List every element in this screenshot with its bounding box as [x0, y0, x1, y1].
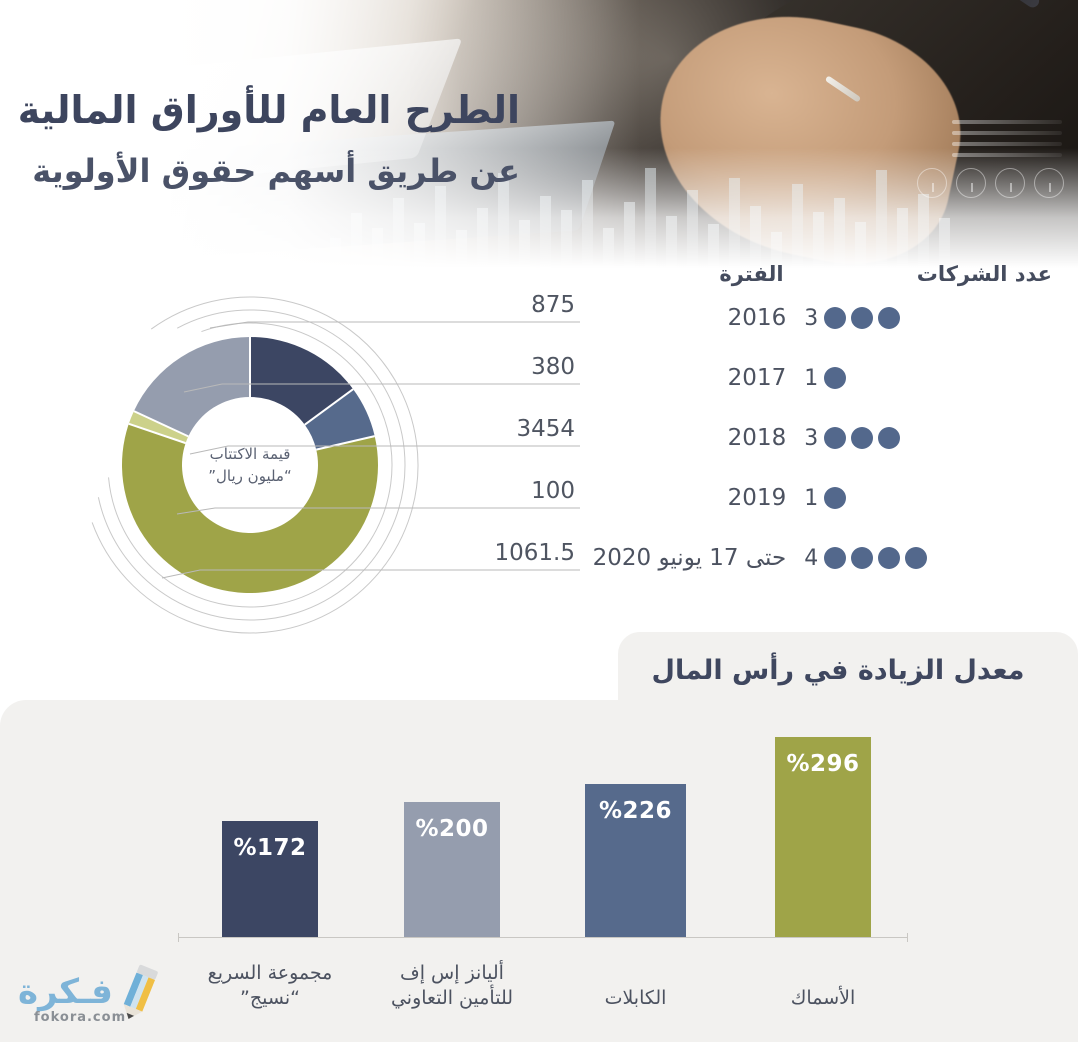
watermark-brand: فـكرة	[18, 972, 113, 1012]
bar: %200	[404, 802, 500, 937]
company-dots	[824, 367, 846, 389]
bar: %172	[222, 821, 318, 937]
donut-value-label: 100	[0, 478, 575, 504]
table-row: 12017	[588, 350, 1058, 406]
company-dot-icon	[851, 307, 873, 329]
donut-value-label: 875	[0, 292, 575, 318]
bar-chart-title: معدل الزيادة في رأس المال	[618, 648, 1058, 692]
bar-value-label: %296	[786, 751, 859, 777]
company-dot-icon	[878, 427, 900, 449]
table-row: 4حتى 17 يونيو 2020	[588, 530, 1058, 586]
page-title: الطرح العام للأوراق المالية	[18, 88, 520, 132]
bar-x-axis	[178, 937, 908, 938]
bar: %296	[775, 737, 871, 937]
watermark-domain: fokora.com	[34, 1010, 126, 1025]
company-dot-icon	[824, 547, 846, 569]
cell-period: 2019	[588, 485, 804, 511]
company-dot-icon	[878, 547, 900, 569]
table-header-row: عدد الشركات الفترة	[588, 262, 1058, 286]
table-row: 32016	[588, 290, 1058, 346]
company-dot-icon	[824, 367, 846, 389]
company-dot-icon	[851, 547, 873, 569]
company-dot-icon	[851, 427, 873, 449]
leader-line	[177, 508, 580, 514]
cell-companies: 4	[804, 546, 1058, 571]
companies-count: 4	[804, 546, 818, 571]
bar-value-label: %172	[233, 835, 306, 861]
company-dot-icon	[824, 427, 846, 449]
cell-period: 2017	[588, 365, 804, 391]
bar-category-label: الكابلات	[559, 986, 712, 1012]
company-dot-icon	[878, 307, 900, 329]
column-header-companies: عدد الشركات	[808, 262, 1058, 286]
watermark: فـكرة fokora.com	[8, 958, 168, 1030]
cell-period: حتى 17 يونيو 2020	[588, 545, 804, 571]
table-body: 320161201732018120194حتى 17 يونيو 2020	[588, 290, 1058, 586]
donut-value-label: 3454	[0, 416, 575, 442]
leader-line	[190, 446, 580, 454]
leader-line	[162, 570, 580, 578]
company-dot-icon	[824, 487, 846, 509]
companies-count: 1	[804, 366, 818, 391]
cell-companies: 3	[804, 426, 1058, 451]
cell-companies: 1	[804, 366, 1058, 391]
infographic-root: الطرح العام للأوراق المالية عن طريق أسهم…	[0, 0, 1078, 1042]
cell-period: 2018	[588, 425, 804, 451]
cell-period: 2016	[588, 305, 804, 331]
cell-companies: 3	[804, 306, 1058, 331]
bar-value-label: %226	[599, 798, 672, 824]
bar: %226	[585, 784, 686, 937]
table-row: 32018	[588, 410, 1058, 466]
companies-count: 3	[804, 426, 818, 451]
company-dots	[824, 547, 927, 569]
companies-count: 3	[804, 306, 818, 331]
company-dot-icon	[824, 307, 846, 329]
bar-category-label: الأسماك	[749, 986, 897, 1012]
donut-value-label: 380	[0, 354, 575, 380]
bar-category-label: أليانز إس إفللتأمين التعاوني	[378, 961, 526, 1012]
company-dots	[824, 307, 900, 329]
leader-line	[184, 384, 580, 392]
leader-line	[210, 322, 580, 328]
company-dot-icon	[905, 547, 927, 569]
table-row: 12019	[588, 470, 1058, 526]
companies-count: 1	[804, 486, 818, 511]
bar-category-label: مجموعة السريع“نسيج”	[196, 961, 344, 1012]
pencil-icon	[116, 964, 162, 1022]
page-subtitle: عن طريق أسهم حقوق الأولوية	[32, 152, 520, 190]
company-dots	[824, 427, 900, 449]
cell-companies: 1	[804, 486, 1058, 511]
donut-value-label: 1061.5	[0, 540, 575, 566]
column-header-period: الفترة	[588, 262, 808, 286]
periods-table: عدد الشركات الفترة 320161201732018120194…	[588, 262, 1058, 586]
bar-value-label: %200	[415, 816, 488, 842]
header-photo	[0, 0, 1078, 268]
company-dots	[824, 487, 846, 509]
